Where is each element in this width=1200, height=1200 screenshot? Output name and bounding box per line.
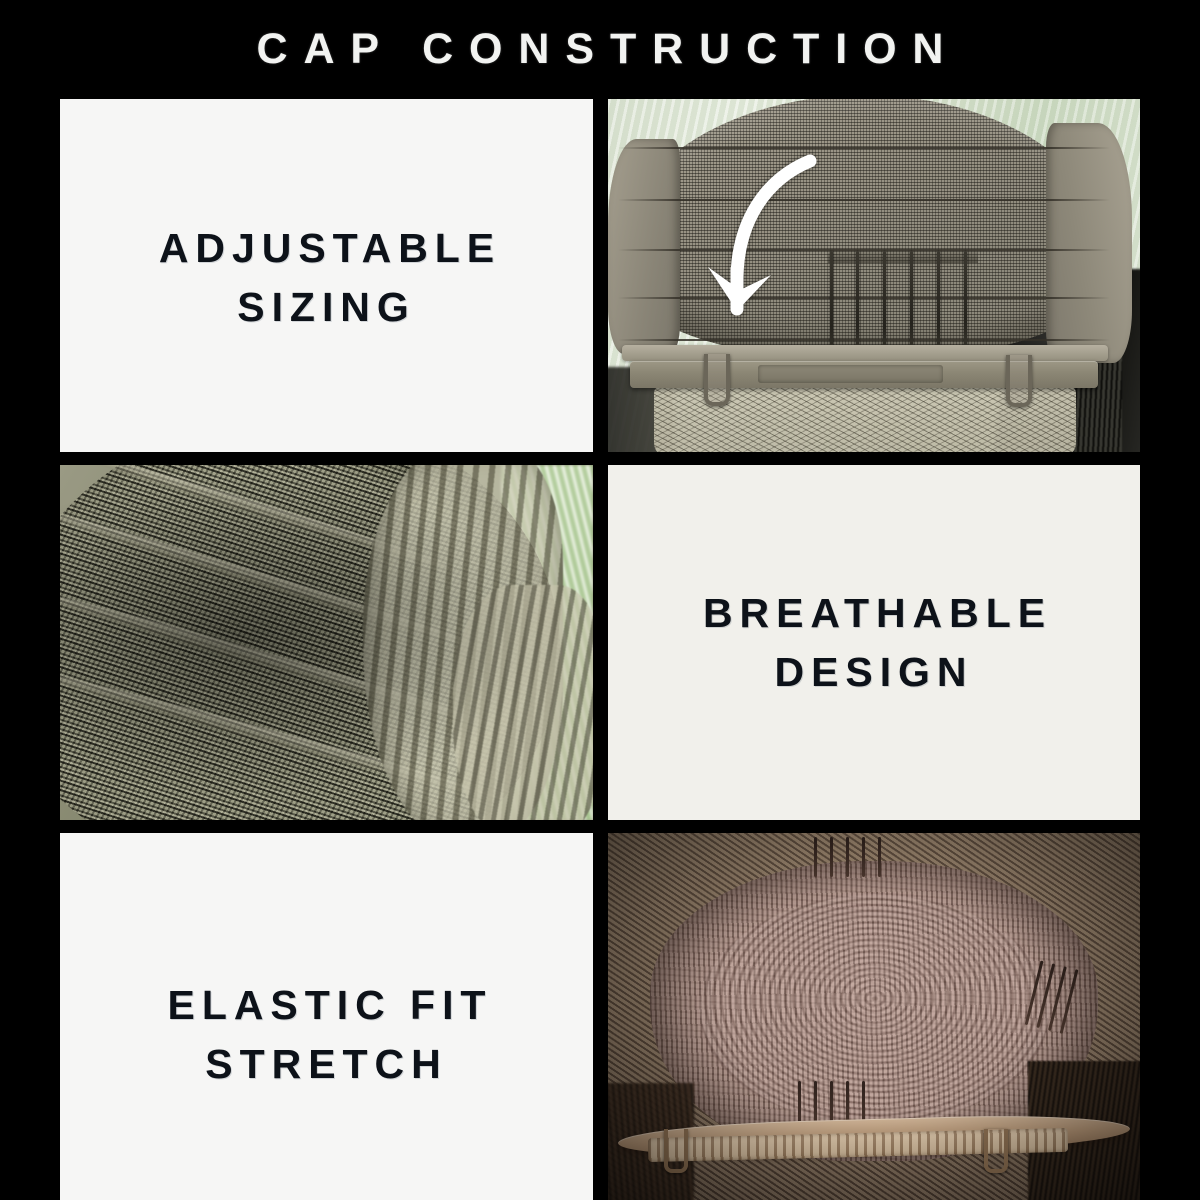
strap-hook-left (704, 354, 730, 406)
cap-bottom-edge-binding (622, 345, 1108, 361)
adjustable-strap-center-rib (758, 365, 943, 383)
cap-seam (618, 199, 1110, 201)
feature-grid: ADJUSTABLE SIZING (60, 99, 1140, 1200)
cap-construction-infographic: CAP CONSTRUCTION ADJUSTABLE SIZING (0, 0, 1200, 1200)
page-title: CAP CONSTRUCTION (241, 28, 960, 71)
interior-vignette-overlay (608, 833, 1140, 1200)
photo-cap-back (608, 99, 1140, 452)
feature-card-elastic-fit-stretch: ELASTIC FIT STRETCH (60, 833, 593, 1200)
feature-card-breathable-design: BREATHABLE DESIGN (608, 465, 1140, 820)
title-bar: CAP CONSTRUCTION (0, 0, 1200, 99)
mesh-shading-overlay (60, 465, 593, 820)
feature-label-elastic-fit-stretch: ELASTIC FIT STRETCH (88, 976, 565, 1092)
cap-side-panel-right (1046, 123, 1132, 363)
photo-breathable-mesh (60, 465, 593, 820)
strap-hook-right (1006, 355, 1032, 407)
photo-cap-interior (608, 833, 1140, 1200)
feature-card-adjustable-sizing: ADJUSTABLE SIZING (60, 99, 593, 452)
feature-label-adjustable-sizing: ADJUSTABLE SIZING (88, 219, 565, 335)
feature-label-breathable-design: BREATHABLE DESIGN (636, 584, 1112, 700)
cap-side-panel-left (608, 139, 680, 354)
cap-seam (618, 147, 1110, 149)
cap-comb-teeth (828, 251, 978, 359)
